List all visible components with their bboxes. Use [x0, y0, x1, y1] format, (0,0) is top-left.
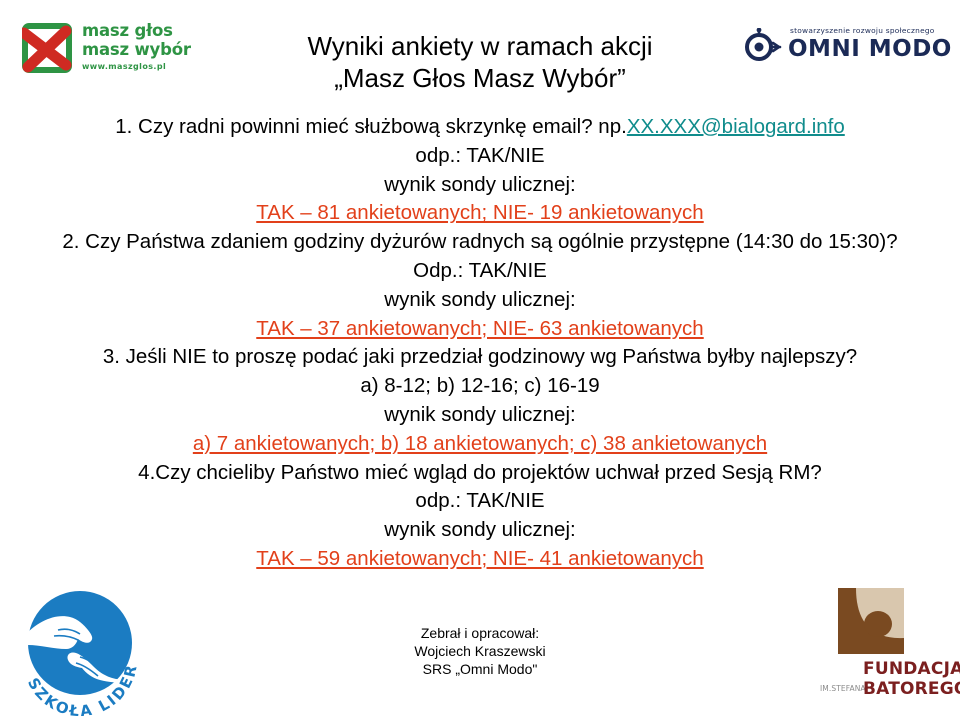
q1-question: 1. Czy radni powinni mieć służbową skrzy…: [18, 113, 942, 142]
credit-line-3: SRS „Omni Modo": [330, 660, 630, 678]
q2-poll-label: wynik sondy ulicznej:: [18, 286, 942, 315]
fundacja-batorego-line2: BATOREGO: [863, 679, 960, 699]
q3-question: 3. Jeśli NIE to proszę podać jaki przedz…: [18, 343, 942, 372]
q1-question-text: 1. Czy radni powinni mieć służbową skrzy…: [115, 115, 627, 138]
title-line-1: Wyniki ankiety w ramach akcji: [0, 30, 960, 62]
fundacja-batorego-mark-icon: [838, 588, 904, 654]
q4-poll-label: wynik sondy ulicznej:: [18, 516, 942, 545]
credit-line-2: Wojciech Kraszewski: [330, 642, 630, 660]
fundacja-batorego-line1: FUNDACJA: [863, 659, 960, 679]
q4-result: TAK – 59 ankietowanych; NIE- 41 ankietow…: [18, 545, 942, 574]
survey-results-body: 1. Czy radni powinni mieć służbową skrzy…: [18, 113, 942, 574]
credit-line-1: Zebrał i opracował:: [330, 624, 630, 642]
q1-result: TAK – 81 ankietowanych; NIE- 19 ankietow…: [18, 199, 942, 228]
q1-answer-options: odp.: TAK/NIE: [18, 142, 942, 171]
q1-email-link[interactable]: XX.XXX@bialogard.info: [627, 115, 845, 138]
page-title: Wyniki ankiety w ramach akcji „Masz Głos…: [0, 30, 960, 94]
q4-answer-options: odp.: TAK/NIE: [18, 487, 942, 516]
fundacja-batorego-prefix: IM.STEFANA: [820, 684, 866, 693]
title-line-2: „Masz Głos Masz Wybór”: [0, 62, 960, 94]
q2-result: TAK – 37 ankietowanych; NIE- 63 ankietow…: [18, 315, 942, 344]
q4-question: 4.Czy chcieliby Państwo mieć wgląd do pr…: [18, 459, 942, 488]
q3-answer-options: a) 8-12; b) 12-16; c) 16-19: [18, 372, 942, 401]
q3-poll-label: wynik sondy ulicznej:: [18, 401, 942, 430]
q3-result: a) 7 ankietowanych; b) 18 ankietowanych;…: [18, 430, 942, 459]
szkola-liderow-logo: SZKOŁA LIDERÓW: [10, 583, 150, 716]
szkola-liderow-handshake-icon: SZKOŁA LIDERÓW: [10, 583, 150, 716]
credit-block: Zebrał i opracował: Wojciech Kraszewski …: [330, 624, 630, 678]
q2-question: 2. Czy Państwa zdaniem godziny dyżurów r…: [18, 228, 942, 257]
q1-poll-label: wynik sondy ulicznej:: [18, 171, 942, 200]
fundacja-batorego-logo: IM.STEFANA FUNDACJA BATOREGO: [820, 588, 952, 708]
slide-canvas: masz głos masz wybór www.maszglos.pl sto…: [0, 0, 960, 720]
q2-answer-options: Odp.: TAK/NIE: [18, 257, 942, 286]
